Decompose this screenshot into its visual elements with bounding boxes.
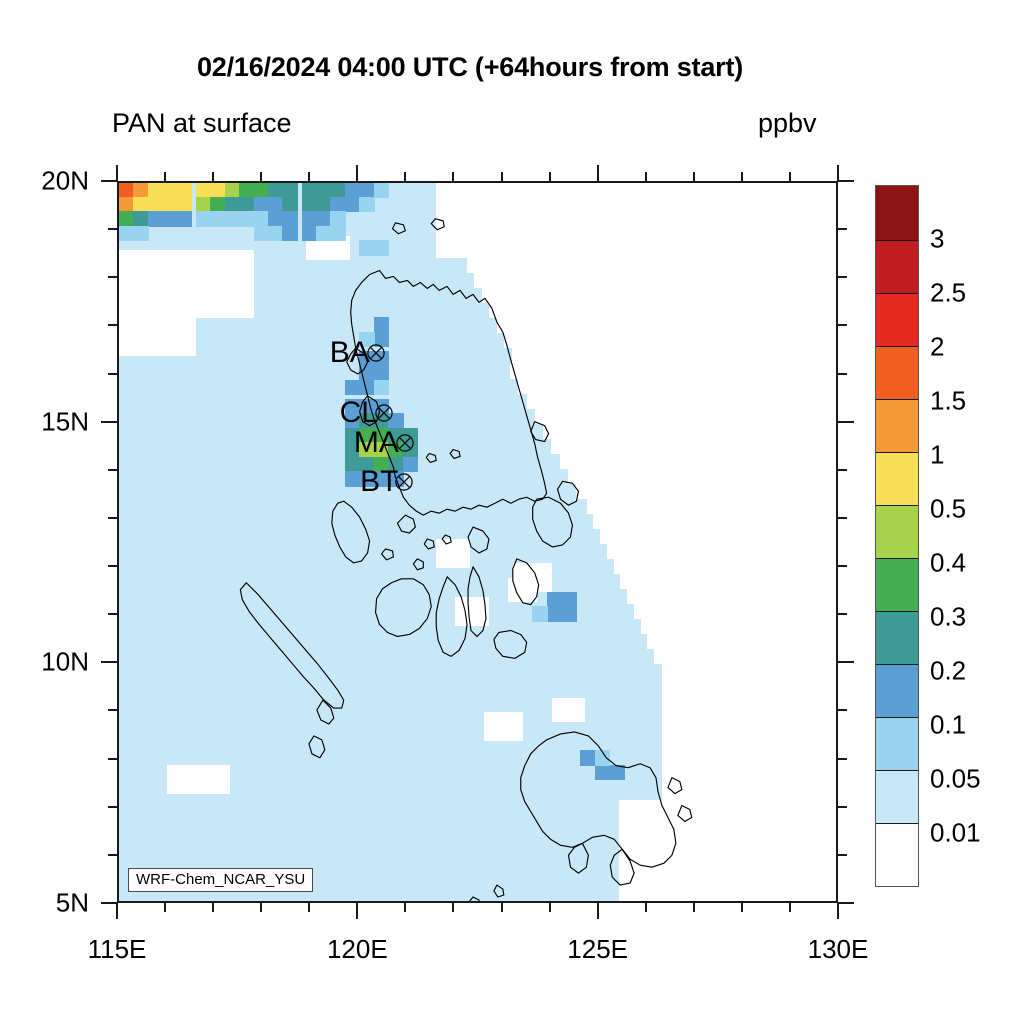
tick-mark [108,517,117,519]
tick-mark [693,903,695,912]
tick-mark [452,903,454,912]
tick-mark [101,180,117,182]
tick-mark [789,172,791,181]
y-axis-label: 15N [41,406,89,437]
map-plot-area[interactable]: WRF-Chem_NCAR_YSU [117,181,838,903]
station-label: BA [330,338,370,368]
tick-mark [108,228,117,230]
tick-mark [356,903,358,919]
colorbar-band [876,452,918,505]
colorbar-tick-label: 0.05 [930,764,981,795]
colorbar-tick-label: 0.1 [930,710,966,741]
tick-mark [164,903,166,912]
tick-mark [116,903,118,919]
colorbar-tick-label: 1 [930,440,944,471]
tick-mark [838,469,847,471]
tick-mark [838,854,847,856]
station-label: BT [360,467,398,497]
tick-mark [356,165,358,181]
tick-mark [838,565,847,567]
tick-mark [108,276,117,278]
tick-mark [741,172,743,181]
station-label: CL [340,398,378,428]
tick-mark [108,709,117,711]
tick-mark [693,172,695,181]
tick-mark [838,180,854,182]
colorbar-tick-label: 0.2 [930,656,966,687]
tick-mark [838,758,847,760]
colorbar-tick-label: 2 [930,332,944,363]
colorbar-tick-label: 2.5 [930,278,966,309]
page-title: 02/16/2024 04:00 UTC (+64hours from star… [0,52,940,83]
colorbar-band [876,717,918,770]
tick-mark [108,565,117,567]
tick-mark [212,172,214,181]
tick-mark [838,373,847,375]
units-label: ppbv [758,108,817,139]
tick-mark [212,903,214,912]
plot-subtitle: PAN at surface [112,108,292,139]
colorbar-band [876,293,918,346]
tick-mark [741,903,743,912]
station-label: MA [354,428,399,458]
tick-mark [501,172,503,181]
tick-mark [108,854,117,856]
tick-mark [838,902,854,904]
station-cross-circle-icon [395,472,414,491]
tick-mark [108,613,117,615]
tick-mark [101,661,117,663]
tick-mark [838,228,847,230]
tick-mark [837,903,839,919]
tick-mark [108,373,117,375]
tick-mark [260,172,262,181]
colorbar-band [876,558,918,611]
colorbar-band [876,186,918,240]
x-axis-label: 130E [808,934,869,965]
colorbar-tick-label: 0.3 [930,602,966,633]
tick-mark [308,903,310,912]
colorbar-band [876,346,918,399]
tick-mark [838,613,847,615]
colorbar-band [876,240,918,293]
tick-mark [838,709,847,711]
y-axis-label: 20N [41,166,89,197]
station-cross-circle-icon [375,403,394,422]
tick-mark [789,903,791,912]
tick-mark [452,172,454,181]
tick-mark [837,165,839,181]
tick-mark [645,172,647,181]
tick-mark [308,172,310,181]
y-axis-label: 10N [41,647,89,678]
station-cross-circle-icon [366,344,385,363]
colorbar-band [876,611,918,664]
tick-mark [549,172,551,181]
tick-mark [597,903,599,919]
colorbar-band [876,823,918,876]
station-cross-circle-icon [395,434,414,453]
tick-mark [597,165,599,181]
tick-mark [501,903,503,912]
tick-mark [645,903,647,912]
tick-mark [164,172,166,181]
colorbar-band [876,399,918,452]
tick-mark [838,324,847,326]
tick-mark [404,903,406,912]
tick-mark [108,469,117,471]
tick-mark [260,903,262,912]
tick-mark [838,661,854,663]
tick-mark [838,517,847,519]
tick-mark [404,172,406,181]
x-axis-label: 125E [567,934,628,965]
tick-mark [108,806,117,808]
x-axis-label: 115E [88,934,147,965]
tick-mark [108,324,117,326]
colorbar-tick-label: 1.5 [930,386,966,417]
tick-mark [108,758,117,760]
colorbar-tick-label: 3 [930,224,944,255]
tick-mark [838,276,847,278]
colorbar[interactable] [875,185,919,887]
tick-mark [838,806,847,808]
colorbar-tick-label: 0.5 [930,494,966,525]
colorbar-band [876,770,918,823]
tick-mark [101,421,117,423]
colorbar-band [876,505,918,558]
y-axis-label: 5N [56,888,89,919]
model-watermark: WRF-Chem_NCAR_YSU [128,868,313,892]
tick-mark [116,165,118,181]
colorbar-band [876,664,918,717]
colorbar-tick-label: 0.4 [930,548,966,579]
tick-mark [549,903,551,912]
colorbar-tick-label: 0.01 [930,818,981,849]
x-axis-label: 120E [327,934,388,965]
coastline-overlay [119,183,836,901]
tick-mark [838,421,854,423]
tick-mark [101,902,117,904]
